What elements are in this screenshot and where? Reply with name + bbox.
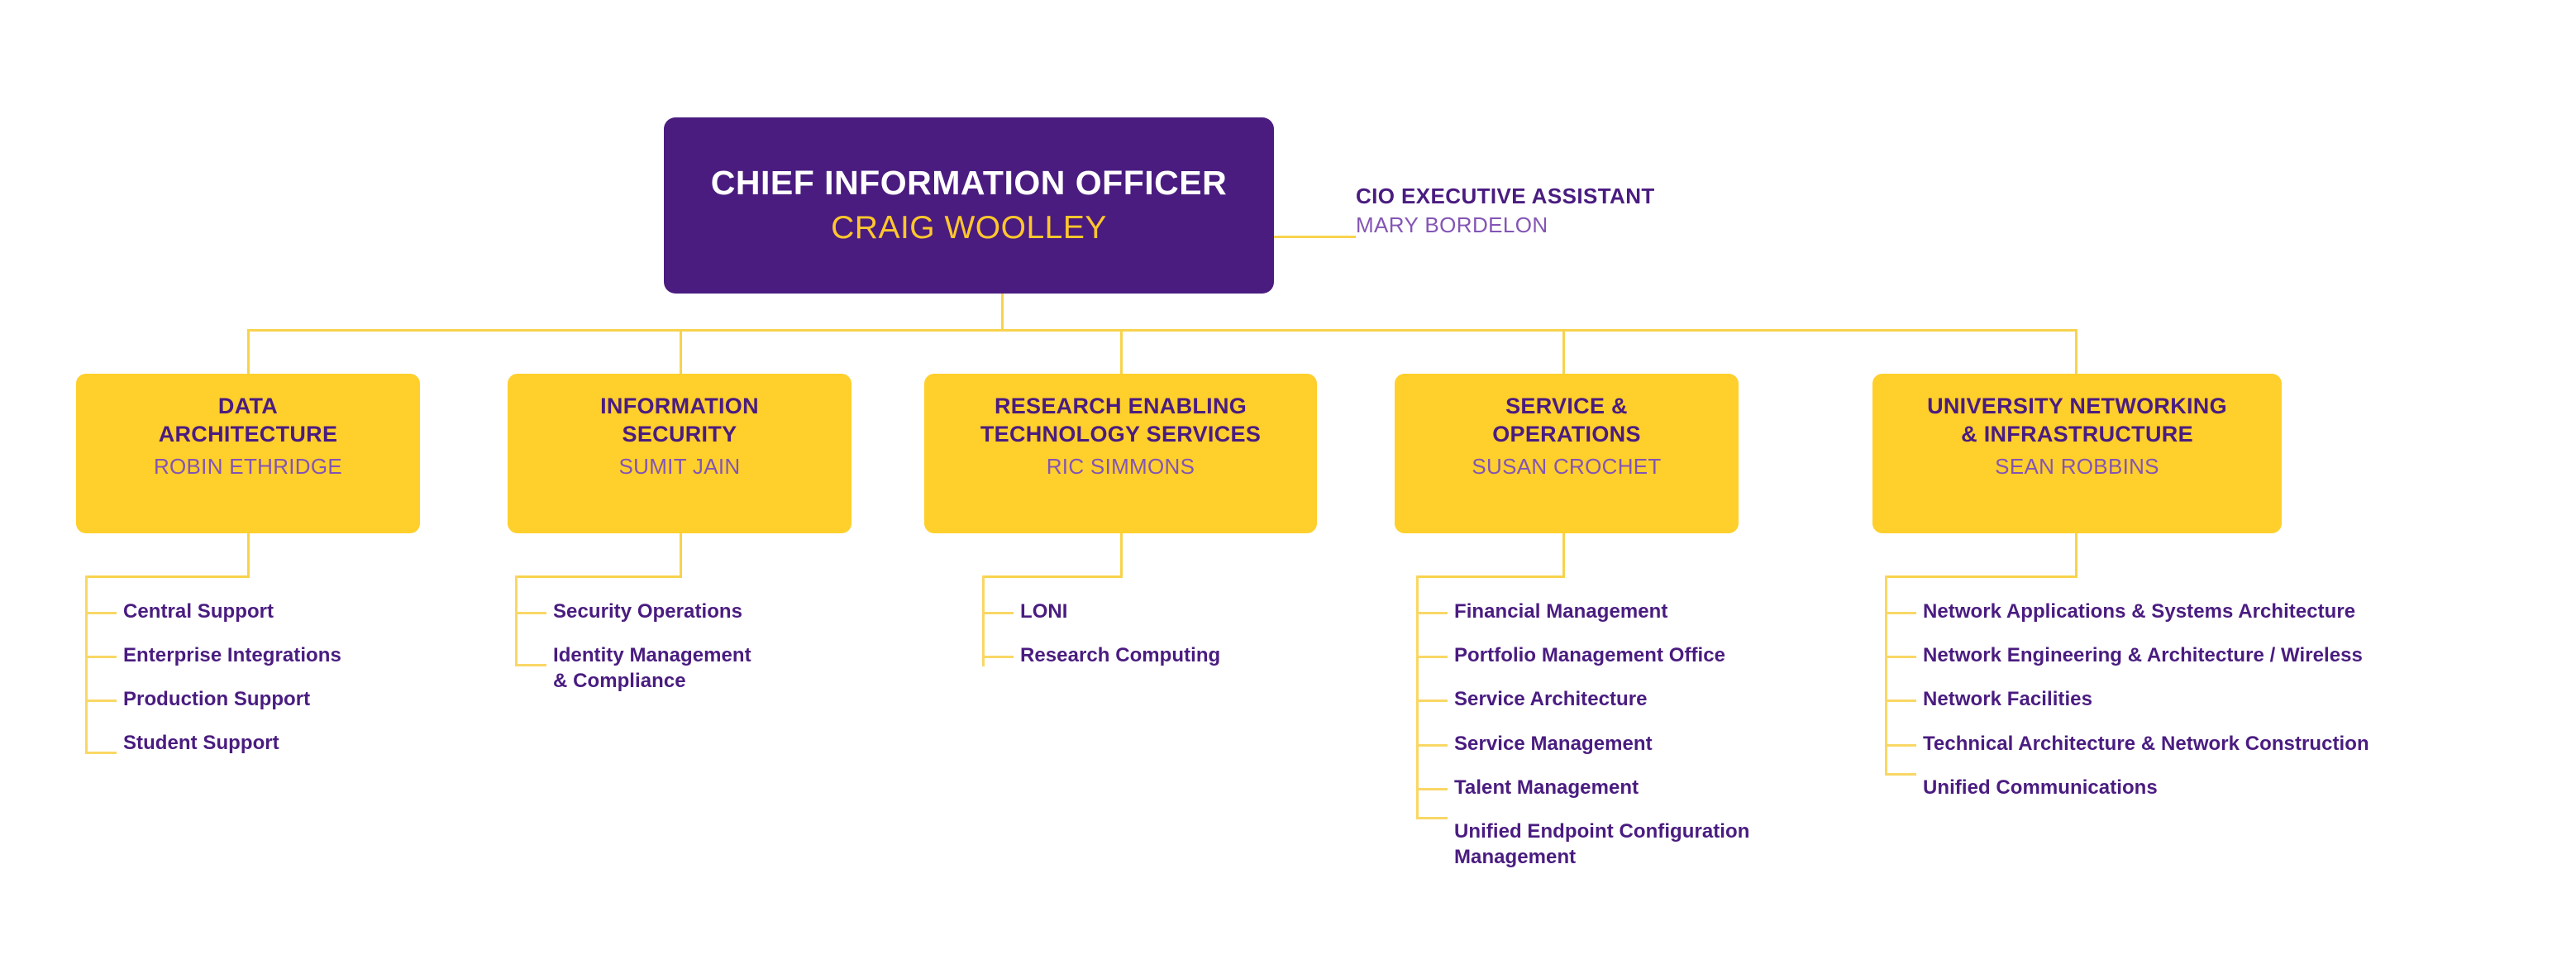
connector-division-4-tick-6 [1416,817,1448,819]
connector-division-3-drop [1120,533,1123,577]
connector-division-2-spine [515,575,518,666]
connector-division-5-tick-5 [1885,773,1916,776]
division-name: SUSAN CROCHET [1472,454,1661,480]
sub-item[interactable]: Service Architecture [1454,686,1843,712]
division-title: UNIVERSITY NETWORKING & INFRASTRUCTURE [1927,392,2227,448]
node-service-and-operations[interactable]: SERVICE & OPERATIONS SUSAN CROCHET [1395,374,1739,533]
sub-item[interactable]: Financial Management [1454,599,1843,624]
sub-item[interactable]: Network Facilities [1923,686,2502,712]
sub-item[interactable]: Portfolio Management Office [1454,642,1843,668]
node-data-architecture[interactable]: DATA ARCHITECTURE ROBIN ETHRIDGE [76,374,420,533]
division-title: INFORMATION SECURITY [600,392,759,448]
sub-item[interactable]: Service Management [1454,731,1843,757]
connector-division-3-tick-2 [982,656,1014,658]
connector-division-1-tick-4 [85,752,117,754]
connector-division-1-tick-2 [85,656,117,658]
connector-division-1-drop [247,533,250,577]
connector-drop-division-3 [1120,329,1123,375]
connector-drop-division-1 [247,329,250,375]
cio-title: CHIEF INFORMATION OFFICER [711,165,1227,203]
division-name: RIC SIMMONS [1047,454,1195,480]
connector-division-4-tick-1 [1416,612,1448,614]
division-name: SUMIT JAIN [619,454,741,480]
sub-item[interactable]: Central Support [123,599,404,624]
node-cio-executive-assistant[interactable]: CIO EXECUTIVE ASSISTANT MARY BORDELON [1356,184,1885,238]
connector-division-1-tick-1 [85,612,117,614]
connector-drop-division-5 [2075,329,2077,375]
connector-division-5-tick-2 [1885,656,1916,658]
connector-division-5-drop [2075,533,2077,577]
assistant-title: CIO EXECUTIVE ASSISTANT [1356,184,1885,209]
connector-drop-division-2 [680,329,682,375]
division-name: ROBIN ETHRIDGE [154,454,342,480]
org-chart: CHIEF INFORMATION OFFICER CRAIG WOOLLEY … [0,0,2576,974]
sub-item[interactable]: Network Engineering & Architecture / Wir… [1923,642,2502,668]
assistant-name: MARY BORDELON [1356,212,1885,239]
connector-division-1-spine [85,575,88,754]
connector-division-4-elbow [1416,575,1565,578]
connector-division-bus [247,329,2077,332]
connector-division-4-tick-2 [1416,656,1448,658]
sub-item[interactable]: Security Operations [553,599,826,624]
connector-division-3-tick-1 [982,612,1014,614]
node-research-enabling-technology-services[interactable]: RESEARCH ENABLING TECHNOLOGY SERVICES RI… [924,374,1317,533]
node-university-networking-and-infrastructure[interactable]: UNIVERSITY NETWORKING & INFRASTRUCTURE S… [1872,374,2282,533]
node-information-security[interactable]: INFORMATION SECURITY SUMIT JAIN [508,374,852,533]
sub-item[interactable]: Unified Endpoint Configuration Managemen… [1454,819,1843,870]
connector-division-3-spine [982,575,985,666]
connector-division-1-tick-3 [85,699,117,702]
division-name: SEAN ROBBINS [1995,454,2159,480]
division-title: DATA ARCHITECTURE [159,392,338,448]
sub-item[interactable]: Unified Communications [1923,775,2502,800]
cio-name: CRAIG WOOLLEY [831,210,1107,247]
division-title: SERVICE & OPERATIONS [1492,392,1641,448]
division-title: RESEARCH ENABLING TECHNOLOGY SERVICES [980,392,1261,448]
connector-division-5-tick-1 [1885,612,1916,614]
connector-division-2-tick-2 [515,664,546,666]
sub-item[interactable]: LONI [1020,599,1318,624]
connector-division-4-tick-4 [1416,744,1448,747]
connector-division-5-tick-3 [1885,699,1916,702]
connector-division-4-tick-3 [1416,699,1448,702]
connector-drop-division-4 [1562,329,1565,375]
connector-cio-trunk [1001,294,1004,331]
connector-division-2-drop [680,533,682,577]
connector-division-5-elbow [1885,575,2077,578]
connector-cio-to-assistant [1274,236,1356,238]
connector-division-4-tick-5 [1416,788,1448,790]
node-chief-information-officer[interactable]: CHIEF INFORMATION OFFICER CRAIG WOOLLEY [664,117,1274,294]
sub-item[interactable]: Technical Architecture & Network Constru… [1923,731,2502,757]
connector-division-5-tick-4 [1885,744,1916,747]
sub-item[interactable]: Identity Management & Compliance [553,642,826,694]
connector-division-2-tick-1 [515,612,546,614]
sub-item[interactable]: Student Support [123,730,404,756]
connector-division-4-drop [1562,533,1565,577]
sub-item[interactable]: Network Applications & Systems Architect… [1923,599,2502,624]
sub-item[interactable]: Production Support [123,686,404,712]
connector-division-2-elbow [515,575,682,578]
sub-item[interactable]: Enterprise Integrations [123,642,404,668]
sub-item[interactable]: Talent Management [1454,775,1843,800]
sub-item[interactable]: Research Computing [1020,642,1318,668]
connector-division-3-elbow [982,575,1123,578]
connector-division-1-elbow [85,575,250,578]
